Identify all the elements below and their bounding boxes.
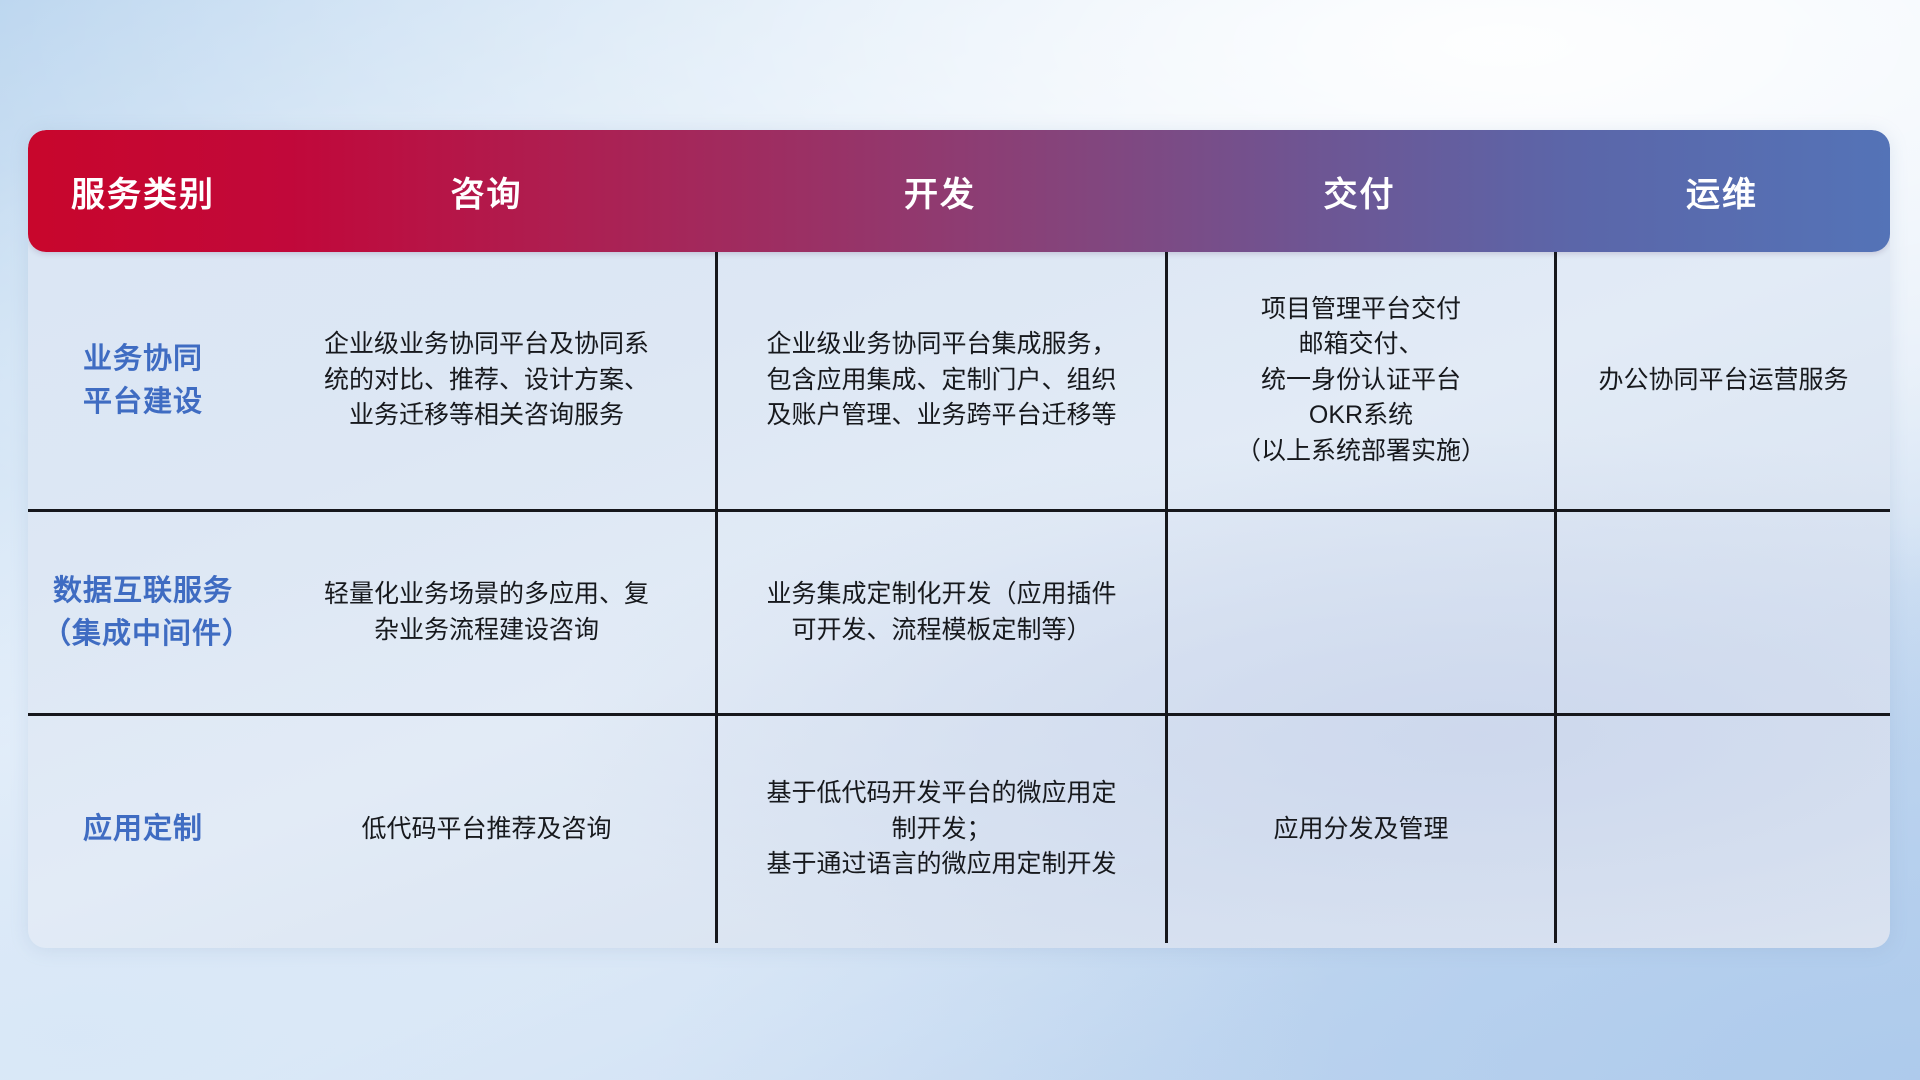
table-cell-development: 业务集成定制化开发（应用插件 可开发、流程模板定制等） bbox=[715, 512, 1165, 713]
table-cell-delivery: 应用分发及管理 bbox=[1165, 716, 1554, 943]
table-cell-category: 应用定制 bbox=[28, 716, 258, 943]
table-cell-delivery: 项目管理平台交付 邮箱交付、 统一身份认证平台 OKR系统 （以上系统部署实施） bbox=[1165, 252, 1554, 509]
table-cell-consulting: 轻量化业务场景的多应用、复 杂业务流程建设咨询 bbox=[258, 512, 715, 713]
category-label: 数据互联服务 （集成中间件） bbox=[42, 570, 244, 655]
cell-text: 应用分发及管理 bbox=[1273, 812, 1448, 848]
table-cell-operations bbox=[1554, 512, 1890, 713]
table-cell-consulting: 低代码平台推荐及咨询 bbox=[258, 716, 715, 943]
service-category-table: 服务类别 咨询 开发 交付 运维 业务协同 平台建设 企业级业务协同平台及协同系… bbox=[28, 130, 1890, 948]
table-cell-development: 企业级业务协同平台集成服务， 包含应用集成、定制门户、组织 及账户管理、业务跨平… bbox=[715, 252, 1165, 509]
category-label: 业务协同 平台建设 bbox=[83, 338, 203, 423]
table-cell-development: 基于低代码开发平台的微应用定 制开发； 基于通过语言的微应用定制开发 bbox=[715, 716, 1165, 943]
cell-text: 基于低代码开发平台的微应用定 制开发； 基于通过语言的微应用定制开发 bbox=[766, 776, 1116, 883]
column-header-development: 开发 bbox=[715, 167, 1165, 216]
cell-text: 项目管理平台交付 邮箱交付、 统一身份认证平台 OKR系统 （以上系统部署实施） bbox=[1236, 292, 1486, 470]
category-label: 应用定制 bbox=[83, 808, 203, 850]
cell-text: 企业级业务协同平台集成服务， 包含应用集成、定制门户、组织 及账户管理、业务跨平… bbox=[766, 327, 1116, 434]
table-row: 数据互联服务 （集成中间件） 轻量化业务场景的多应用、复 杂业务流程建设咨询 业… bbox=[28, 509, 1890, 713]
table-row: 业务协同 平台建设 企业级业务协同平台及协同系 统的对比、推荐、设计方案、 业务… bbox=[28, 252, 1890, 509]
column-header-service-category: 服务类别 bbox=[28, 167, 258, 216]
table-cell-category: 数据互联服务 （集成中间件） bbox=[28, 512, 258, 713]
cell-text: 办公协同平台运营服务 bbox=[1598, 363, 1848, 399]
cell-text: 轻量化业务场景的多应用、复 杂业务流程建设咨询 bbox=[324, 577, 649, 648]
table-row: 应用定制 低代码平台推荐及咨询 基于低代码开发平台的微应用定 制开发； 基于通过… bbox=[28, 713, 1890, 943]
table-body: 业务协同 平台建设 企业级业务协同平台及协同系 统的对比、推荐、设计方案、 业务… bbox=[28, 252, 1890, 943]
cell-text: 业务集成定制化开发（应用插件 可开发、流程模板定制等） bbox=[766, 577, 1116, 648]
cell-text: 企业级业务协同平台及协同系 统的对比、推荐、设计方案、 业务迁移等相关咨询服务 bbox=[324, 327, 649, 434]
table-cell-delivery bbox=[1165, 512, 1554, 713]
column-header-delivery: 交付 bbox=[1165, 167, 1554, 216]
table-cell-category: 业务协同 平台建设 bbox=[28, 252, 258, 509]
table-header-row: 服务类别 咨询 开发 交付 运维 bbox=[28, 130, 1890, 252]
cell-text: 低代码平台推荐及咨询 bbox=[361, 812, 611, 848]
column-header-operations: 运维 bbox=[1554, 167, 1890, 216]
table-cell-operations bbox=[1554, 716, 1890, 943]
table-cell-consulting: 企业级业务协同平台及协同系 统的对比、推荐、设计方案、 业务迁移等相关咨询服务 bbox=[258, 252, 715, 509]
column-header-consulting: 咨询 bbox=[258, 167, 715, 216]
table-cell-operations: 办公协同平台运营服务 bbox=[1554, 252, 1890, 509]
